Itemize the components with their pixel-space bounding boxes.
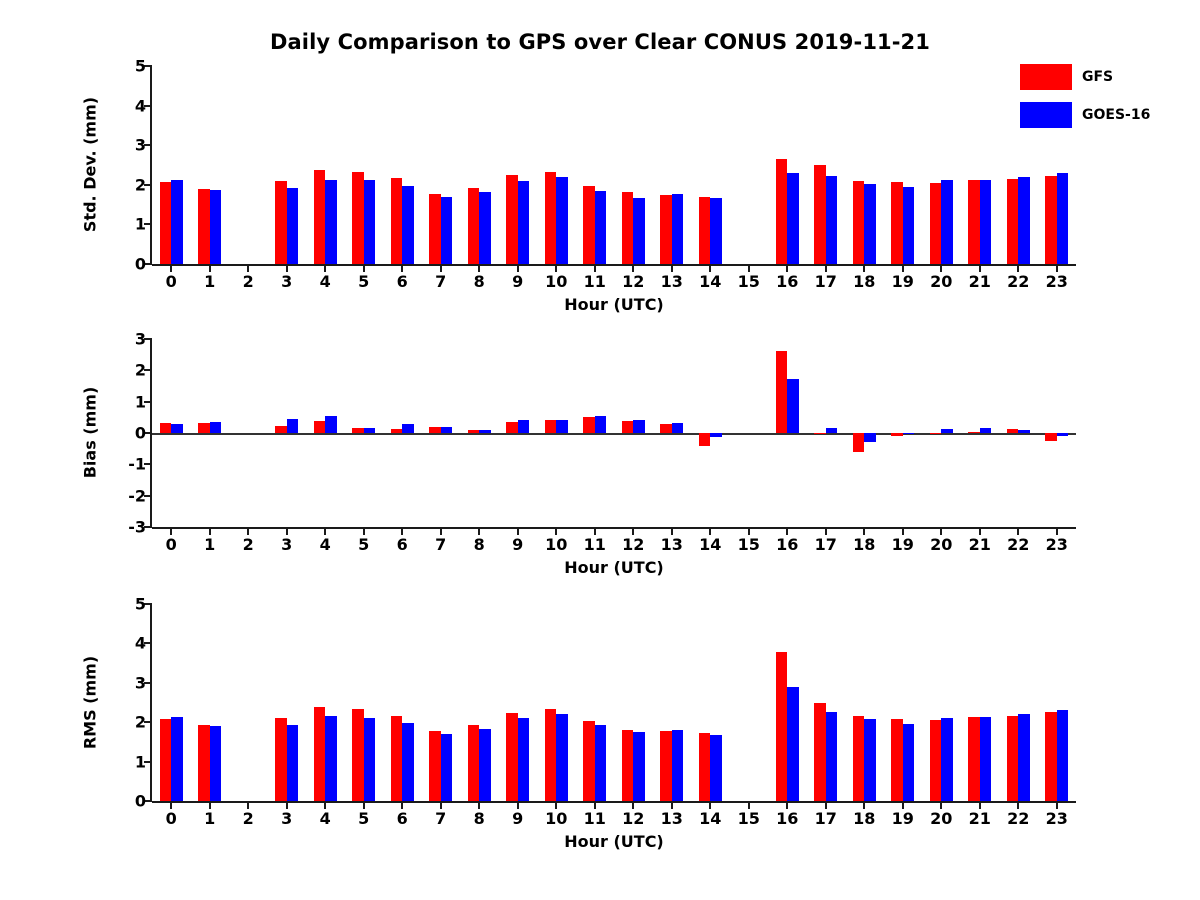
bar-bias-goes-16-h14 <box>710 433 722 437</box>
bar-bias-goes-16-h17 <box>826 428 838 433</box>
x-tick-rms-13 <box>671 801 673 809</box>
bar-bias-gfs-h3 <box>275 426 287 433</box>
y-tick-label-bias-0: -3 <box>128 518 146 537</box>
bar-bias-gfs-h10 <box>545 420 557 433</box>
x-tick-label-bias-18: 18 <box>853 535 875 554</box>
bar-bias-goes-16-h0 <box>171 424 183 433</box>
y-axis-label-rms: RMS (mm) <box>81 632 100 772</box>
x-tick-label-bias-0: 0 <box>166 535 177 554</box>
bar-bias-gfs-h22 <box>1007 429 1019 433</box>
x-tick-rms-20 <box>940 801 942 809</box>
bar-bias-goes-16-h19 <box>903 433 915 434</box>
bar-bias-gfs-h21 <box>968 432 980 433</box>
x-tick-rms-5 <box>363 801 365 809</box>
x-tick-bias-10 <box>555 527 557 535</box>
bar-rms-gfs-h10 <box>545 709 557 801</box>
y-tick-label-bias-5: 2 <box>135 361 146 380</box>
x-tick-bias-5 <box>363 527 365 535</box>
x-tick-label-bias-21: 21 <box>969 535 991 554</box>
x-tick-rms-7 <box>440 801 442 809</box>
x-tick-bias-15 <box>748 527 750 535</box>
x-tick-label-bias-8: 8 <box>474 535 485 554</box>
x-tick-bias-11 <box>594 527 596 535</box>
y-tick-label-rms-5: 5 <box>135 595 146 614</box>
x-tick-label-bias-6: 6 <box>397 535 408 554</box>
x-tick-label-rms-4: 4 <box>320 809 331 828</box>
bar-rms-goes-16-h0 <box>171 717 183 801</box>
x-tick-bias-19 <box>902 527 904 535</box>
bar-rms-goes-16-h20 <box>941 718 953 801</box>
chart-root: Daily Comparison to GPS over Clear CONUS… <box>0 0 1200 900</box>
bar-rms-goes-16-h17 <box>826 712 838 801</box>
x-tick-bias-14 <box>709 527 711 535</box>
x-tick-rms-18 <box>863 801 865 809</box>
x-tick-label-rms-23: 23 <box>1046 809 1068 828</box>
bar-bias-goes-16-h11 <box>595 416 607 433</box>
bar-rms-goes-16-h11 <box>595 725 607 801</box>
x-tick-bias-0 <box>170 527 172 535</box>
x-tick-label-rms-13: 13 <box>661 809 683 828</box>
bar-rms-gfs-h21 <box>968 717 980 801</box>
x-tick-label-rms-12: 12 <box>622 809 644 828</box>
bar-bias-gfs-h23 <box>1045 433 1057 441</box>
bar-rms-gfs-h16 <box>776 652 788 801</box>
bar-rms-goes-16-h16 <box>787 687 799 801</box>
bar-rms-goes-16-h19 <box>903 724 915 801</box>
x-tick-bias-16 <box>786 527 788 535</box>
y-tick-label-bias-2: -1 <box>128 455 146 474</box>
bar-rms-gfs-h1 <box>198 725 210 801</box>
bar-rms-gfs-h3 <box>275 718 287 801</box>
bar-bias-goes-16-h16 <box>787 379 799 433</box>
bar-rms-gfs-h4 <box>314 707 326 801</box>
x-tick-rms-17 <box>825 801 827 809</box>
bar-rms-gfs-h6 <box>391 716 403 801</box>
x-tick-label-bias-16: 16 <box>776 535 798 554</box>
bar-bias-gfs-h1 <box>198 423 210 433</box>
x-tick-rms-2 <box>247 801 249 809</box>
bar-bias-gfs-h17 <box>814 433 826 434</box>
x-tick-label-rms-18: 18 <box>853 809 875 828</box>
bar-bias-goes-16-h20 <box>941 429 953 433</box>
bar-bias-goes-16-h5 <box>364 428 376 433</box>
bar-rms-goes-16-h10 <box>556 714 568 801</box>
x-tick-label-bias-5: 5 <box>358 535 369 554</box>
bar-bias-gfs-h16 <box>776 351 788 433</box>
bar-rms-goes-16-h8 <box>479 729 491 801</box>
bar-rms-goes-16-h7 <box>441 734 453 801</box>
x-tick-bias-8 <box>478 527 480 535</box>
y-tick-label-rms-3: 3 <box>135 673 146 692</box>
x-tick-label-bias-7: 7 <box>435 535 446 554</box>
x-axis-line-bias <box>152 527 1076 529</box>
x-tick-label-bias-20: 20 <box>930 535 952 554</box>
x-tick-bias-20 <box>940 527 942 535</box>
bar-bias-gfs-h4 <box>314 421 326 433</box>
bar-bias-gfs-h11 <box>583 417 595 433</box>
y-tick-label-bias-6: 3 <box>135 330 146 349</box>
bar-rms-goes-16-h18 <box>864 719 876 801</box>
y-axis-label-bias: Bias (mm) <box>81 363 100 503</box>
y-tick-label-rms-1: 1 <box>135 752 146 771</box>
bar-rms-goes-16-h5 <box>364 718 376 801</box>
bar-rms-goes-16-h4 <box>325 716 337 801</box>
bar-rms-gfs-h17 <box>814 703 826 802</box>
bar-rms-gfs-h9 <box>506 713 518 801</box>
bar-bias-gfs-h5 <box>352 428 364 433</box>
bar-bias-gfs-h6 <box>391 429 403 433</box>
x-axis-label-rms: Hour (UTC) <box>152 832 1076 851</box>
x-tick-rms-21 <box>979 801 981 809</box>
x-tick-label-bias-14: 14 <box>699 535 721 554</box>
bar-rms-goes-16-h21 <box>980 717 992 801</box>
x-tick-bias-6 <box>401 527 403 535</box>
x-tick-label-rms-9: 9 <box>512 809 523 828</box>
y-tick-label-bias-1: -2 <box>128 486 146 505</box>
bar-bias-goes-16-h21 <box>980 428 992 433</box>
x-tick-label-rms-10: 10 <box>545 809 567 828</box>
x-tick-label-bias-3: 3 <box>281 535 292 554</box>
bar-rms-goes-16-h23 <box>1057 710 1069 801</box>
bar-bias-goes-16-h4 <box>325 416 337 433</box>
panel-rms: 0123450123456789101112131415161718192021… <box>0 0 1200 300</box>
x-tick-label-rms-5: 5 <box>358 809 369 828</box>
bar-rms-gfs-h8 <box>468 725 480 801</box>
x-tick-bias-7 <box>440 527 442 535</box>
x-tick-label-rms-17: 17 <box>815 809 837 828</box>
bar-rms-gfs-h0 <box>160 719 172 801</box>
bar-bias-goes-16-h6 <box>402 424 414 433</box>
y-tick-label-rms-0: 0 <box>135 792 146 811</box>
x-tick-rms-9 <box>517 801 519 809</box>
bar-rms-gfs-h12 <box>622 730 634 801</box>
x-tick-label-bias-19: 19 <box>892 535 914 554</box>
x-tick-rms-10 <box>555 801 557 809</box>
x-tick-bias-17 <box>825 527 827 535</box>
x-tick-label-rms-1: 1 <box>204 809 215 828</box>
x-tick-bias-1 <box>209 527 211 535</box>
x-tick-label-bias-11: 11 <box>584 535 606 554</box>
bar-bias-goes-16-h13 <box>672 423 684 433</box>
bar-rms-gfs-h22 <box>1007 716 1019 801</box>
x-tick-label-bias-4: 4 <box>320 535 331 554</box>
x-tick-label-rms-20: 20 <box>930 809 952 828</box>
bar-bias-gfs-h14 <box>699 433 711 446</box>
y-tick-label-rms-2: 2 <box>135 713 146 732</box>
x-axis-line-rms <box>152 801 1076 803</box>
x-tick-rms-0 <box>170 801 172 809</box>
bar-bias-goes-16-h9 <box>518 420 530 433</box>
x-tick-rms-19 <box>902 801 904 809</box>
bar-bias-goes-16-h10 <box>556 420 568 433</box>
x-tick-label-rms-11: 11 <box>584 809 606 828</box>
x-tick-rms-15 <box>748 801 750 809</box>
bar-bias-gfs-h8 <box>468 430 480 433</box>
bar-bias-goes-16-h18 <box>864 433 876 442</box>
x-tick-label-rms-0: 0 <box>166 809 177 828</box>
x-tick-label-rms-6: 6 <box>397 809 408 828</box>
bar-rms-gfs-h11 <box>583 721 595 801</box>
x-tick-bias-4 <box>324 527 326 535</box>
bar-bias-gfs-h9 <box>506 422 518 433</box>
x-tick-label-rms-15: 15 <box>738 809 760 828</box>
x-tick-label-bias-1: 1 <box>204 535 215 554</box>
x-tick-rms-12 <box>632 801 634 809</box>
x-tick-label-bias-13: 13 <box>661 535 683 554</box>
plot-area-rms: 0123450123456789101112131415161718192021… <box>152 604 1076 801</box>
x-tick-label-bias-22: 22 <box>1007 535 1029 554</box>
bar-rms-gfs-h20 <box>930 720 942 801</box>
bar-bias-gfs-h12 <box>622 421 634 433</box>
y-axis-line-rms <box>150 604 152 801</box>
x-tick-label-bias-23: 23 <box>1046 535 1068 554</box>
x-tick-rms-4 <box>324 801 326 809</box>
x-tick-bias-9 <box>517 527 519 535</box>
bar-rms-gfs-h19 <box>891 719 903 801</box>
x-tick-bias-23 <box>1056 527 1058 535</box>
x-tick-label-rms-8: 8 <box>474 809 485 828</box>
x-tick-label-bias-10: 10 <box>545 535 567 554</box>
bar-rms-goes-16-h14 <box>710 735 722 801</box>
bar-rms-gfs-h18 <box>853 716 865 801</box>
x-tick-label-bias-12: 12 <box>622 535 644 554</box>
x-tick-rms-14 <box>709 801 711 809</box>
x-tick-rms-23 <box>1056 801 1058 809</box>
bar-bias-goes-16-h22 <box>1018 430 1030 433</box>
bar-bias-goes-16-h1 <box>210 422 222 433</box>
y-tick-label-rms-4: 4 <box>135 634 146 653</box>
y-tick-label-bias-3: 0 <box>135 424 146 443</box>
y-tick-label-bias-4: 1 <box>135 392 146 411</box>
x-tick-label-bias-17: 17 <box>815 535 837 554</box>
bar-bias-goes-16-h7 <box>441 427 453 433</box>
bar-bias-goes-16-h12 <box>633 420 645 433</box>
x-tick-label-rms-21: 21 <box>969 809 991 828</box>
bar-bias-gfs-h13 <box>660 424 672 433</box>
x-tick-label-rms-3: 3 <box>281 809 292 828</box>
x-tick-rms-22 <box>1017 801 1019 809</box>
bar-bias-goes-16-h3 <box>287 419 299 433</box>
x-tick-label-rms-22: 22 <box>1007 809 1029 828</box>
bar-bias-goes-16-h8 <box>479 430 491 433</box>
bar-bias-gfs-h20 <box>930 433 942 434</box>
x-tick-bias-18 <box>863 527 865 535</box>
bar-rms-goes-16-h6 <box>402 723 414 801</box>
bar-rms-goes-16-h12 <box>633 732 645 801</box>
bar-rms-goes-16-h22 <box>1018 714 1030 801</box>
bar-rms-gfs-h23 <box>1045 712 1057 801</box>
x-tick-bias-3 <box>286 527 288 535</box>
bar-bias-gfs-h18 <box>853 433 865 452</box>
x-axis-label-bias: Hour (UTC) <box>152 558 1076 577</box>
bar-rms-gfs-h5 <box>352 709 364 801</box>
x-tick-label-bias-15: 15 <box>738 535 760 554</box>
bar-bias-gfs-h7 <box>429 427 441 433</box>
x-tick-bias-22 <box>1017 527 1019 535</box>
x-tick-label-bias-2: 2 <box>243 535 254 554</box>
x-tick-rms-6 <box>401 801 403 809</box>
x-tick-rms-3 <box>286 801 288 809</box>
bar-bias-goes-16-h23 <box>1057 433 1069 436</box>
x-tick-rms-16 <box>786 801 788 809</box>
x-tick-label-bias-9: 9 <box>512 535 523 554</box>
x-tick-label-rms-16: 16 <box>776 809 798 828</box>
x-tick-bias-2 <box>247 527 249 535</box>
bar-bias-gfs-h0 <box>160 423 172 433</box>
bar-rms-gfs-h13 <box>660 731 672 801</box>
x-tick-bias-21 <box>979 527 981 535</box>
x-tick-bias-13 <box>671 527 673 535</box>
bar-bias-gfs-h19 <box>891 433 903 436</box>
x-tick-bias-12 <box>632 527 634 535</box>
bar-rms-goes-16-h3 <box>287 725 299 801</box>
x-tick-rms-8 <box>478 801 480 809</box>
bar-rms-gfs-h7 <box>429 731 441 801</box>
bar-rms-goes-16-h1 <box>210 726 222 801</box>
x-tick-label-rms-2: 2 <box>243 809 254 828</box>
plot-area-bias: -3-2-10123012345678910111213141516171819… <box>152 339 1076 527</box>
x-tick-rms-1 <box>209 801 211 809</box>
bar-rms-gfs-h14 <box>699 733 711 801</box>
x-tick-rms-11 <box>594 801 596 809</box>
x-tick-label-rms-14: 14 <box>699 809 721 828</box>
bar-rms-goes-16-h13 <box>672 730 684 801</box>
x-tick-label-rms-19: 19 <box>892 809 914 828</box>
bar-rms-goes-16-h9 <box>518 718 530 801</box>
x-tick-label-rms-7: 7 <box>435 809 446 828</box>
